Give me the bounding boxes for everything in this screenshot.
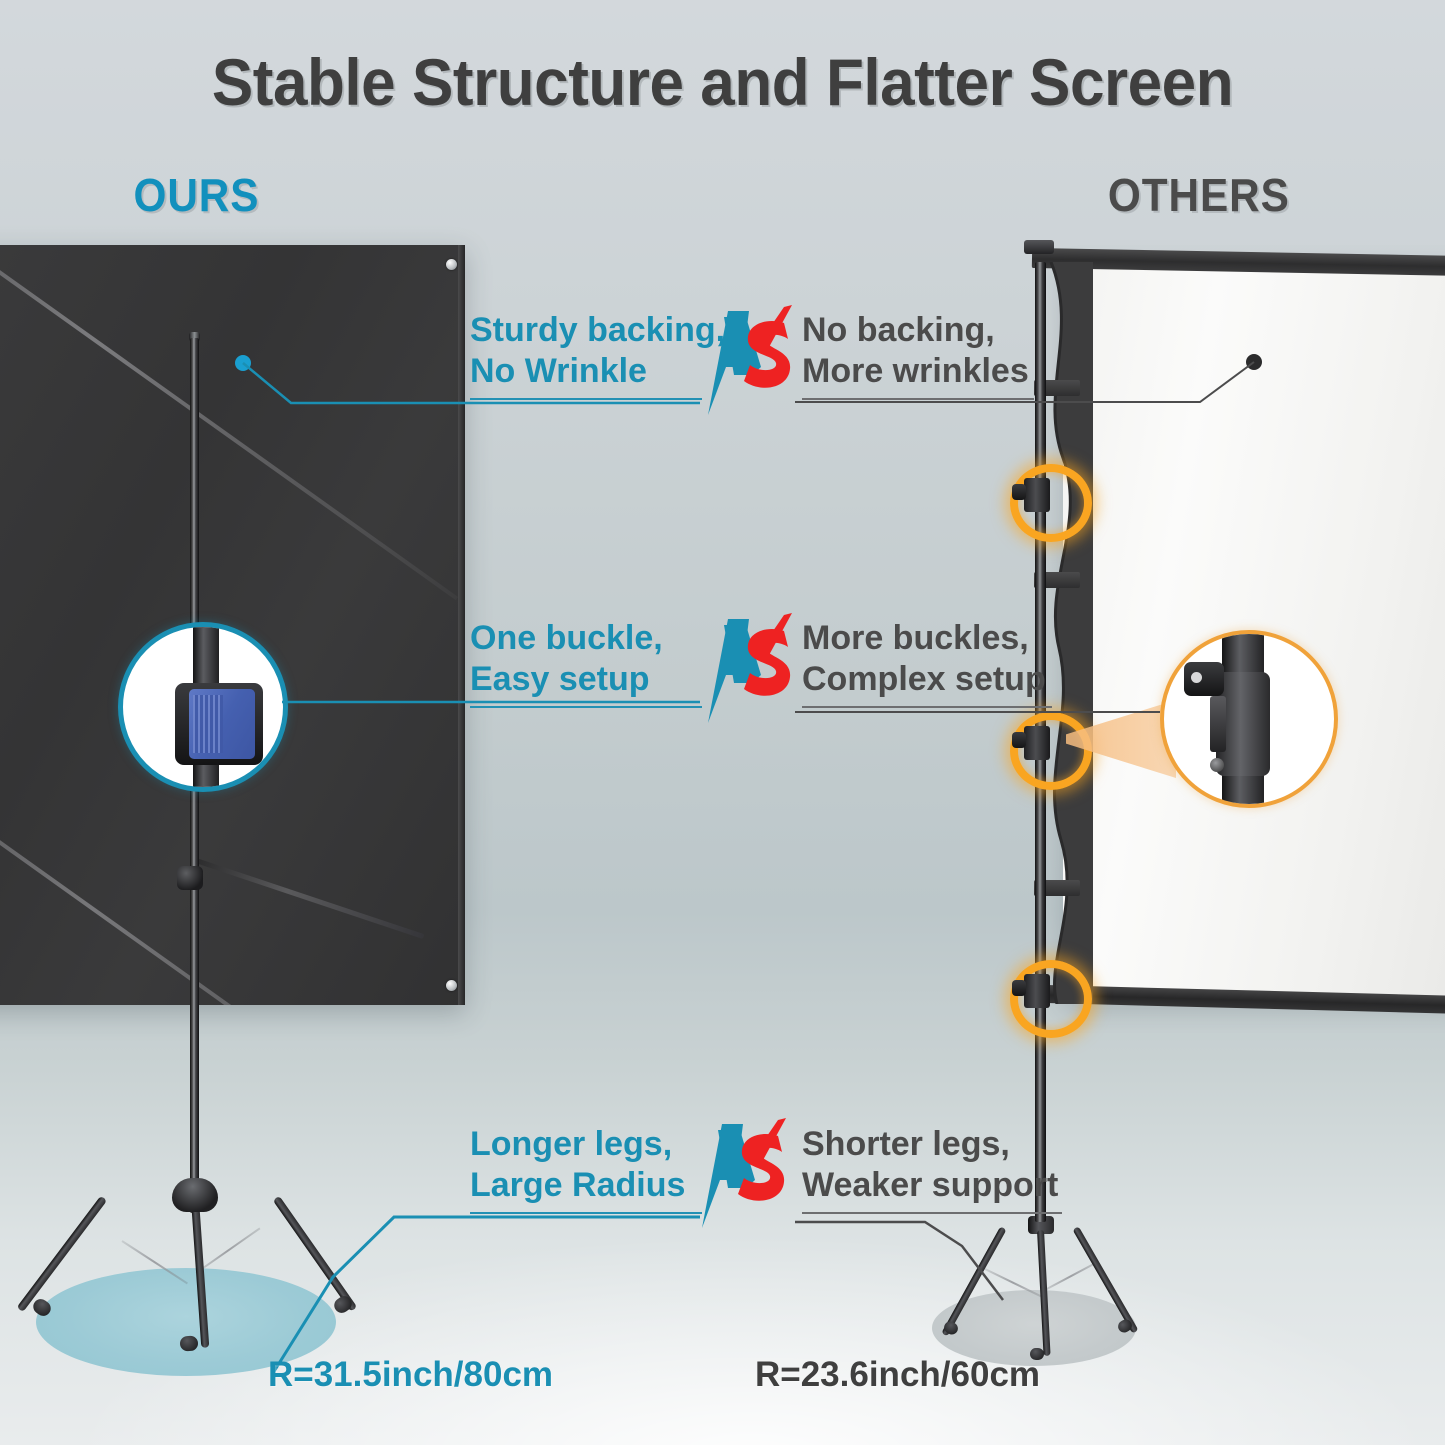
buckle-others-1 — [1024, 478, 1050, 512]
buckle-knob-1 — [1012, 484, 1026, 500]
tripod-brace-ours-right — [195, 1227, 260, 1273]
vs-badge-backing — [706, 305, 802, 425]
leader-line-ours-legs — [273, 1217, 700, 1373]
tripod-foot-ours-right — [331, 1293, 354, 1316]
buckle-knob-2 — [1012, 732, 1026, 748]
vs-badge-buckle — [706, 613, 802, 733]
callout-ours-buckle-line1: One buckle, — [470, 618, 702, 659]
callout-ours-legs-line1: Longer legs, — [470, 1124, 702, 1165]
bubble-buckle-ribs-ours — [193, 695, 223, 753]
callout-ours-backing-line1: Sturdy backing, — [470, 310, 702, 351]
screen-right-edge — [458, 245, 465, 1005]
callout-others-legs-line2: Weaker support — [802, 1165, 1062, 1206]
column-heading-ours: OURS — [133, 168, 259, 222]
callout-others-buckle-line2: Complex setup — [802, 659, 1052, 700]
callout-others-buckle: More buckles, Complex setup — [802, 618, 1052, 708]
callout-others-backing-line1: No backing, — [802, 310, 1034, 351]
callout-rule-ours-legs — [470, 1212, 702, 1214]
callout-rule-others-buckle — [802, 706, 1052, 708]
callout-rule-others-legs — [802, 1212, 1062, 1214]
callout-others-buckle-line1: More buckles, — [802, 618, 1052, 659]
pole-top-bracket-others — [1024, 240, 1054, 254]
callout-ours-legs: Longer legs, Large Radius — [470, 1124, 702, 1214]
magnifier-bubble-others-buckle — [1160, 630, 1338, 808]
radius-label-ours: R=31.5inch/80cm — [268, 1355, 553, 1395]
buckle-others-3 — [1024, 974, 1050, 1008]
callout-ours-buckle: One buckle, Easy setup — [470, 618, 702, 708]
bubble-buckle-knob-hole — [1191, 672, 1202, 683]
tripod-hub-ours — [172, 1178, 218, 1212]
screen-fabric-seams — [0, 245, 465, 1005]
grommet-top-right — [446, 259, 457, 270]
page-title: Stable Structure and Flatter Screen — [43, 44, 1401, 120]
callout-rule-ours-backing — [470, 398, 702, 400]
tripod-brace-others-right — [1043, 1261, 1099, 1292]
radius-label-others: R=23.6inch/60cm — [755, 1355, 1040, 1395]
column-heading-others: OTHERS — [1108, 168, 1290, 222]
highlight-ring-buckle-3 — [1010, 960, 1092, 1038]
buckle-others-2 — [1024, 726, 1050, 760]
callout-ours-legs-line2: Large Radius — [470, 1165, 702, 1206]
grommet-bottom-right — [446, 980, 457, 991]
buckle-knob-3 — [1012, 980, 1026, 996]
crossbar-joint-ours — [177, 866, 203, 890]
callout-others-backing: No backing, More wrinkles — [802, 310, 1034, 400]
bubble-buckle-screw-others — [1210, 758, 1224, 772]
highlight-ring-buckle-2 — [1010, 712, 1092, 790]
callout-ours-buckle-line2: Easy setup — [470, 659, 702, 700]
magnifier-bubble-ours-buckle — [118, 622, 288, 792]
vs-badge-legs — [700, 1118, 796, 1238]
callout-rule-ours-buckle — [470, 706, 702, 708]
callout-others-legs: Shorter legs, Weaker support — [802, 1124, 1062, 1214]
bubble-buckle-knob-others — [1184, 662, 1224, 696]
bubble-buckle-lever-others — [1210, 696, 1226, 752]
callout-rule-others-backing — [802, 398, 1034, 400]
highlight-ring-buckle-1 — [1010, 464, 1092, 542]
projector-screen-ours — [0, 245, 465, 1005]
callout-ours-backing: Sturdy backing, No Wrinkle — [470, 310, 702, 400]
callout-others-legs-line1: Shorter legs, — [802, 1124, 1062, 1165]
callout-others-backing-line2: More wrinkles — [802, 351, 1034, 392]
infographic-canvas: Stable Structure and Flatter Screen OURS… — [0, 0, 1445, 1445]
callout-ours-backing-line2: No Wrinkle — [470, 351, 702, 392]
